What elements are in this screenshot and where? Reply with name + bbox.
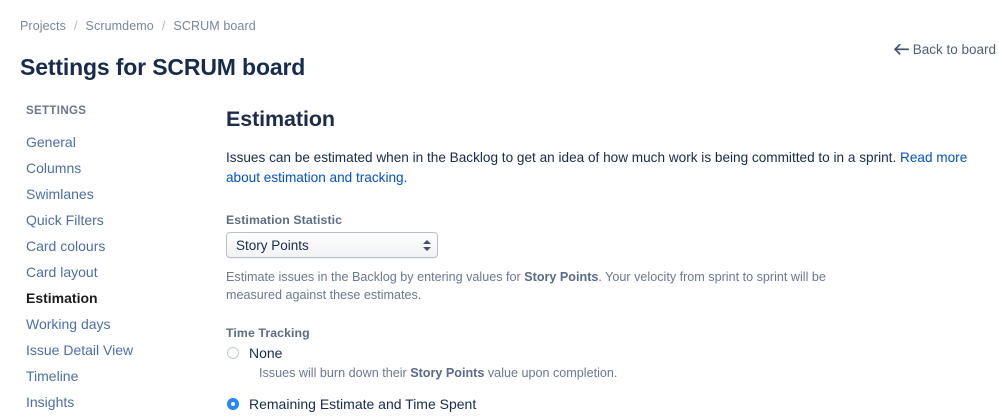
estimation-statistic-select[interactable]: Story Points (226, 232, 438, 258)
breadcrumb-separator: / (154, 19, 174, 33)
estimation-statistic-label: Estimation Statistic (226, 213, 997, 227)
sidebar-item-working-days[interactable]: Working days (26, 311, 206, 337)
radio-remaining-estimate[interactable] (227, 398, 239, 410)
section-title: Estimation (226, 106, 997, 132)
time-tracking-option-remaining-estimate[interactable]: Remaining Estimate and Time Spent (226, 396, 997, 412)
radio-none-help-before: Issues will burn down their (259, 366, 410, 380)
sidebar-item-card-colours[interactable]: Card colours (26, 233, 206, 259)
page-title: Settings for SCRUM board (20, 53, 305, 82)
time-tracking-radio-group: None Issues will burn down their Story P… (226, 345, 997, 418)
sidebar-item-insights[interactable]: Insights (26, 389, 206, 415)
sidebar-item-card-layout[interactable]: Card layout (26, 259, 206, 285)
breadcrumb: Projects / Scrumdemo / SCRUM board (20, 19, 256, 33)
help-text-bold: Story Points (524, 270, 598, 284)
sidebar-item-columns[interactable]: Columns (26, 155, 206, 181)
radio-none-label: None (249, 345, 282, 361)
time-tracking-option-none[interactable]: None (226, 345, 997, 361)
back-to-board-label: Back to board (913, 42, 996, 57)
back-to-board-link[interactable]: Back to board (894, 42, 996, 57)
estimation-settings-panel: Estimation Issues can be estimated when … (226, 106, 997, 418)
breadcrumb-separator: / (66, 19, 86, 33)
arrow-left-icon (894, 44, 909, 55)
sidebar-item-swimlanes[interactable]: Swimlanes (26, 181, 206, 207)
sidebar-item-general[interactable]: General (26, 129, 206, 155)
settings-sidebar: SETTINGS General Columns Swimlanes Quick… (26, 105, 206, 415)
radio-none-help-mid: value upon completion. (484, 366, 617, 380)
sidebar-item-issue-detail-view[interactable]: Issue Detail View (26, 337, 206, 363)
breadcrumb-item-projects[interactable]: Projects (20, 19, 66, 33)
breadcrumb-item-scrumdemo[interactable]: Scrumdemo (86, 19, 154, 33)
intro-text: Issues can be estimated when in the Back… (226, 150, 900, 165)
time-tracking-label: Time Tracking (226, 326, 997, 340)
sidebar-heading: SETTINGS (26, 105, 206, 117)
radio-none[interactable] (227, 347, 239, 359)
breadcrumb-item-scrum-board[interactable]: SCRUM board (173, 19, 255, 33)
sidebar-list: General Columns Swimlanes Quick Filters … (26, 129, 206, 415)
sidebar-item-estimation[interactable]: Estimation (26, 285, 206, 311)
estimation-statistic-help: Estimate issues in the Backlog by enteri… (226, 268, 878, 304)
radio-none-help-bold: Story Points (410, 366, 484, 380)
sidebar-item-timeline[interactable]: Timeline (26, 363, 206, 389)
settings-page: Projects / Scrumdemo / SCRUM board Setti… (0, 0, 999, 418)
sidebar-item-quick-filters[interactable]: Quick Filters (26, 207, 206, 233)
radio-remaining-estimate-label: Remaining Estimate and Time Spent (249, 396, 476, 412)
estimation-intro-text: Issues can be estimated when in the Back… (226, 148, 997, 187)
radio-none-help: Issues will burn down their Story Points… (259, 364, 997, 382)
estimation-statistic-select-wrapper[interactable]: Story Points (226, 232, 438, 258)
help-text-before: Estimate issues in the Backlog by enteri… (226, 270, 524, 284)
